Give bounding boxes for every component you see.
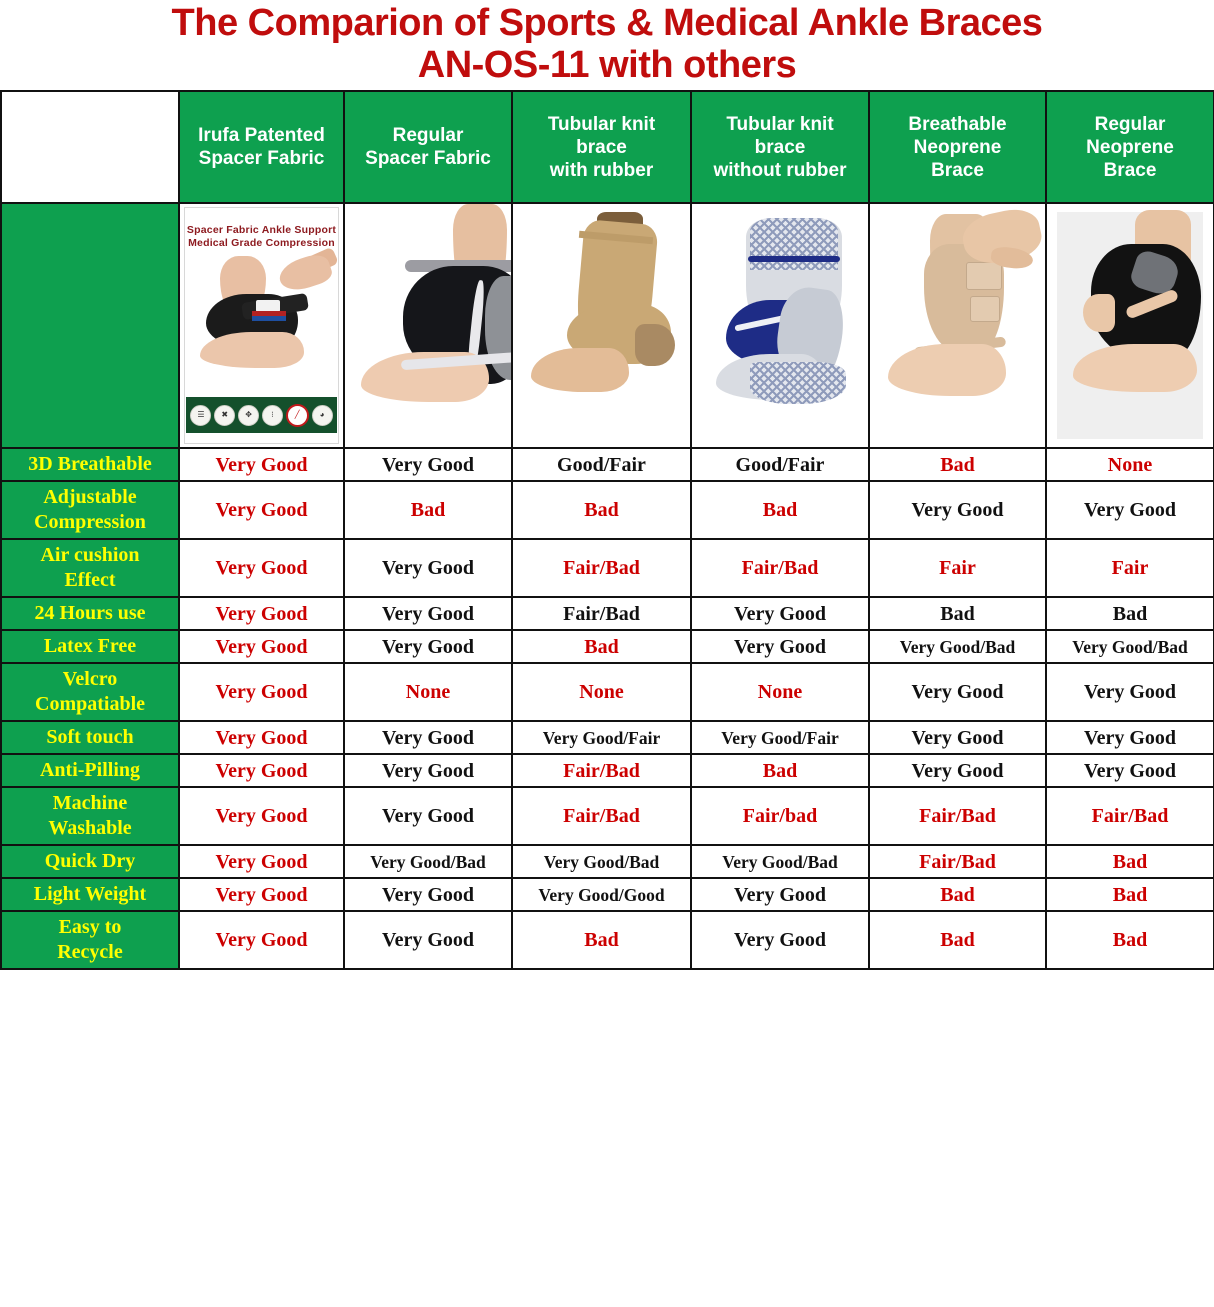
cell-r10-c1: Very Good	[344, 878, 512, 911]
cell-r3-c4: Bad	[869, 597, 1046, 630]
cell-r1-c2: Bad	[512, 481, 691, 539]
cell-r7-c4: Very Good	[869, 754, 1046, 787]
cell-r2-c2: Fair/Bad	[512, 539, 691, 597]
velcro-tab-lower	[970, 296, 1000, 322]
column-header-4: Breathable Neoprene Brace	[869, 91, 1046, 203]
header-row: Irufa Patented Spacer FabricRegular Spac…	[1, 91, 1214, 203]
cell-r8-c2: Fair/Bad	[512, 787, 691, 845]
cell-r2-c4: Fair	[869, 539, 1046, 597]
adjustable-icon: ✥	[238, 405, 259, 426]
cell-r7-c0: Very Good	[179, 754, 344, 787]
cell-r7-c3: Bad	[691, 754, 869, 787]
cell-r2-c0: Very Good	[179, 539, 344, 597]
hand-shape	[276, 251, 335, 296]
product-image-breathable-neoprene	[870, 204, 1045, 447]
cell-r10-c3: Very Good	[691, 878, 869, 911]
machine-wash-icon: ◕	[312, 405, 333, 426]
cell-r9-c0: Very Good	[179, 845, 344, 878]
table-row: Adjustable CompressionVery GoodBadBadBad…	[1, 481, 1214, 539]
cell-r5-c1: None	[344, 663, 512, 721]
comparison-page: The Comparion of Sports & Medical Ankle …	[0, 0, 1214, 1307]
table-row: Latex FreeVery GoodVery GoodBadVery Good…	[1, 630, 1214, 663]
table-row: Machine WashableVery GoodVery GoodFair/B…	[1, 787, 1214, 845]
table-row: Easy to RecycleVery GoodVery GoodBadVery…	[1, 911, 1214, 969]
column-header-2: Tubular knit brace with rubber	[512, 91, 691, 203]
cell-r8-c3: Fair/bad	[691, 787, 869, 845]
cell-r11-c3: Very Good	[691, 911, 869, 969]
foot-shape	[1073, 344, 1197, 392]
row-label-2: Air cushion Effect	[1, 539, 179, 597]
cell-r11-c2: Bad	[512, 911, 691, 969]
cell-r6-c3: Very Good/Fair	[691, 721, 869, 754]
cell-r1-c4: Very Good	[869, 481, 1046, 539]
cell-r10-c2: Very Good/Good	[512, 878, 691, 911]
cell-r3-c2: Fair/Bad	[512, 597, 691, 630]
cell-r8-c5: Fair/Bad	[1046, 787, 1214, 845]
cell-r11-c5: Bad	[1046, 911, 1214, 969]
table-corner-cell	[1, 91, 179, 203]
row-label-10: Light Weight	[1, 878, 179, 911]
cell-r6-c2: Very Good/Fair	[512, 721, 691, 754]
cell-r6-c0: Very Good	[179, 721, 344, 754]
product-image-row: Spacer Fabric Ankle Support Medical Grad…	[1, 203, 1214, 448]
heel-opening-shape	[1083, 294, 1115, 332]
mesh-panel-shape	[750, 218, 838, 270]
cell-r3-c1: Very Good	[344, 597, 512, 630]
table-row: Quick DryVery GoodVery Good/BadVery Good…	[1, 845, 1214, 878]
cell-r1-c1: Bad	[344, 481, 512, 539]
column-header-5: Regular Neoprene Brace	[1046, 91, 1214, 203]
cell-r1-c3: Bad	[691, 481, 869, 539]
product-image-irufa: Spacer Fabric Ankle Support Medical Grad…	[180, 204, 343, 447]
comparison-table: Irufa Patented Spacer FabricRegular Spac…	[0, 90, 1214, 970]
cell-r4-c3: Very Good	[691, 630, 869, 663]
feature-icon-band: ☰ ✖ ✥ ⁝ ╱ ◕	[186, 397, 337, 433]
row-label-5: Velcro Compatiable	[1, 663, 179, 721]
product-image-cell-1	[344, 203, 512, 448]
table-row: Soft touchVery GoodVery GoodVery Good/Fa…	[1, 721, 1214, 754]
row-label-4: Latex Free	[1, 630, 179, 663]
cell-r10-c0: Very Good	[179, 878, 344, 911]
cell-r3-c0: Very Good	[179, 597, 344, 630]
cell-r11-c1: Very Good	[344, 911, 512, 969]
foot-shape	[200, 332, 304, 368]
cell-r7-c5: Very Good	[1046, 754, 1214, 787]
cell-r4-c2: Bad	[512, 630, 691, 663]
cell-r4-c1: Very Good	[344, 630, 512, 663]
table-body: Irufa Patented Spacer FabricRegular Spac…	[1, 91, 1214, 969]
cell-r8-c0: Very Good	[179, 787, 344, 845]
column-header-1: Regular Spacer Fabric	[344, 91, 512, 203]
package-overlay-text: Spacer Fabric Ankle Support Medical Grad…	[180, 224, 343, 250]
cell-r1-c5: Very Good	[1046, 481, 1214, 539]
foot-shape	[531, 348, 629, 392]
cell-r8-c4: Fair/Bad	[869, 787, 1046, 845]
row-label-8: Machine Washable	[1, 787, 179, 845]
cell-r2-c5: Fair	[1046, 539, 1214, 597]
image-row-corner-cell	[1, 203, 179, 448]
cell-r0-c1: Very Good	[344, 448, 512, 481]
product-image-tubular-without-rubber	[692, 204, 868, 447]
cell-r11-c4: Bad	[869, 911, 1046, 969]
heel-patch-shape	[635, 324, 675, 366]
cell-r0-c3: Good/Fair	[691, 448, 869, 481]
breathable-icon: ☰	[190, 405, 211, 426]
row-label-3: 24 Hours use	[1, 597, 179, 630]
table-row: Air cushion EffectVery GoodVery GoodFair…	[1, 539, 1214, 597]
cell-r9-c4: Fair/Bad	[869, 845, 1046, 878]
brand-logo-bar-blue	[252, 316, 286, 321]
cell-r0-c4: Bad	[869, 448, 1046, 481]
column-header-3: Tubular knit brace without rubber	[691, 91, 869, 203]
table-row: 3D BreathableVery GoodVery GoodGood/Fair…	[1, 448, 1214, 481]
row-label-1: Adjustable Compression	[1, 481, 179, 539]
cell-r2-c3: Fair/Bad	[691, 539, 869, 597]
product-image-cell-3	[691, 203, 869, 448]
cell-r9-c1: Very Good/Bad	[344, 845, 512, 878]
velcro-tab-upper	[966, 262, 1002, 290]
compression-icon: ✖	[214, 405, 235, 426]
product-image-regular-neoprene	[1047, 204, 1213, 447]
cell-r4-c4: Very Good/Bad	[869, 630, 1046, 663]
cell-r9-c3: Very Good/Bad	[691, 845, 869, 878]
cell-r10-c4: Bad	[869, 878, 1046, 911]
cell-r5-c0: Very Good	[179, 663, 344, 721]
row-label-9: Quick Dry	[1, 845, 179, 878]
cell-r5-c2: None	[512, 663, 691, 721]
table-row: 24 Hours useVery GoodVery GoodFair/BadVe…	[1, 597, 1214, 630]
cell-r6-c1: Very Good	[344, 721, 512, 754]
cell-r2-c1: Very Good	[344, 539, 512, 597]
cell-r7-c1: Very Good	[344, 754, 512, 787]
product-image-tubular-with-rubber	[513, 204, 690, 447]
cell-r10-c5: Bad	[1046, 878, 1214, 911]
cell-r3-c5: Bad	[1046, 597, 1214, 630]
table-row: Light WeightVery GoodVery GoodVery Good/…	[1, 878, 1214, 911]
cell-r0-c5: None	[1046, 448, 1214, 481]
cell-r5-c3: None	[691, 663, 869, 721]
product-image-cell-5	[1046, 203, 1214, 448]
cell-r4-c0: Very Good	[179, 630, 344, 663]
cell-r9-c5: Bad	[1046, 845, 1214, 878]
cell-r6-c5: Very Good	[1046, 721, 1214, 754]
no-latex-icon: ╱	[286, 404, 309, 427]
page-title: The Comparion of Sports & Medical Ankle …	[0, 0, 1214, 90]
cell-r0-c2: Good/Fair	[512, 448, 691, 481]
cell-r1-c0: Very Good	[179, 481, 344, 539]
cell-r0-c0: Very Good	[179, 448, 344, 481]
table-row: Anti-PillingVery GoodVery GoodFair/BadBa…	[1, 754, 1214, 787]
foot-shape	[888, 344, 1006, 396]
cell-r5-c4: Very Good	[869, 663, 1046, 721]
cell-r8-c1: Very Good	[344, 787, 512, 845]
cell-r5-c5: Very Good	[1046, 663, 1214, 721]
cell-r3-c3: Very Good	[691, 597, 869, 630]
cell-r11-c0: Very Good	[179, 911, 344, 969]
product-image-regular-spacer	[345, 204, 511, 447]
cell-r9-c2: Very Good/Bad	[512, 845, 691, 878]
product-image-cell-0: Spacer Fabric Ankle Support Medical Grad…	[179, 203, 344, 448]
row-label-0: 3D Breathable	[1, 448, 179, 481]
cell-r4-c5: Very Good/Bad	[1046, 630, 1214, 663]
row-label-7: Anti-Pilling	[1, 754, 179, 787]
package-photo	[186, 254, 337, 374]
cell-r6-c4: Very Good	[869, 721, 1046, 754]
cushion-icon: ⁝	[262, 405, 283, 426]
product-image-cell-4	[869, 203, 1046, 448]
row-label-11: Easy to Recycle	[1, 911, 179, 969]
navy-band-shape	[748, 256, 840, 262]
mesh-panel-lower-shape	[750, 362, 846, 404]
row-label-6: Soft touch	[1, 721, 179, 754]
table-row: Velcro CompatiableVery GoodNoneNoneNoneV…	[1, 663, 1214, 721]
product-image-cell-2	[512, 203, 691, 448]
column-header-0: Irufa Patented Spacer Fabric	[179, 91, 344, 203]
cell-r7-c2: Fair/Bad	[512, 754, 691, 787]
